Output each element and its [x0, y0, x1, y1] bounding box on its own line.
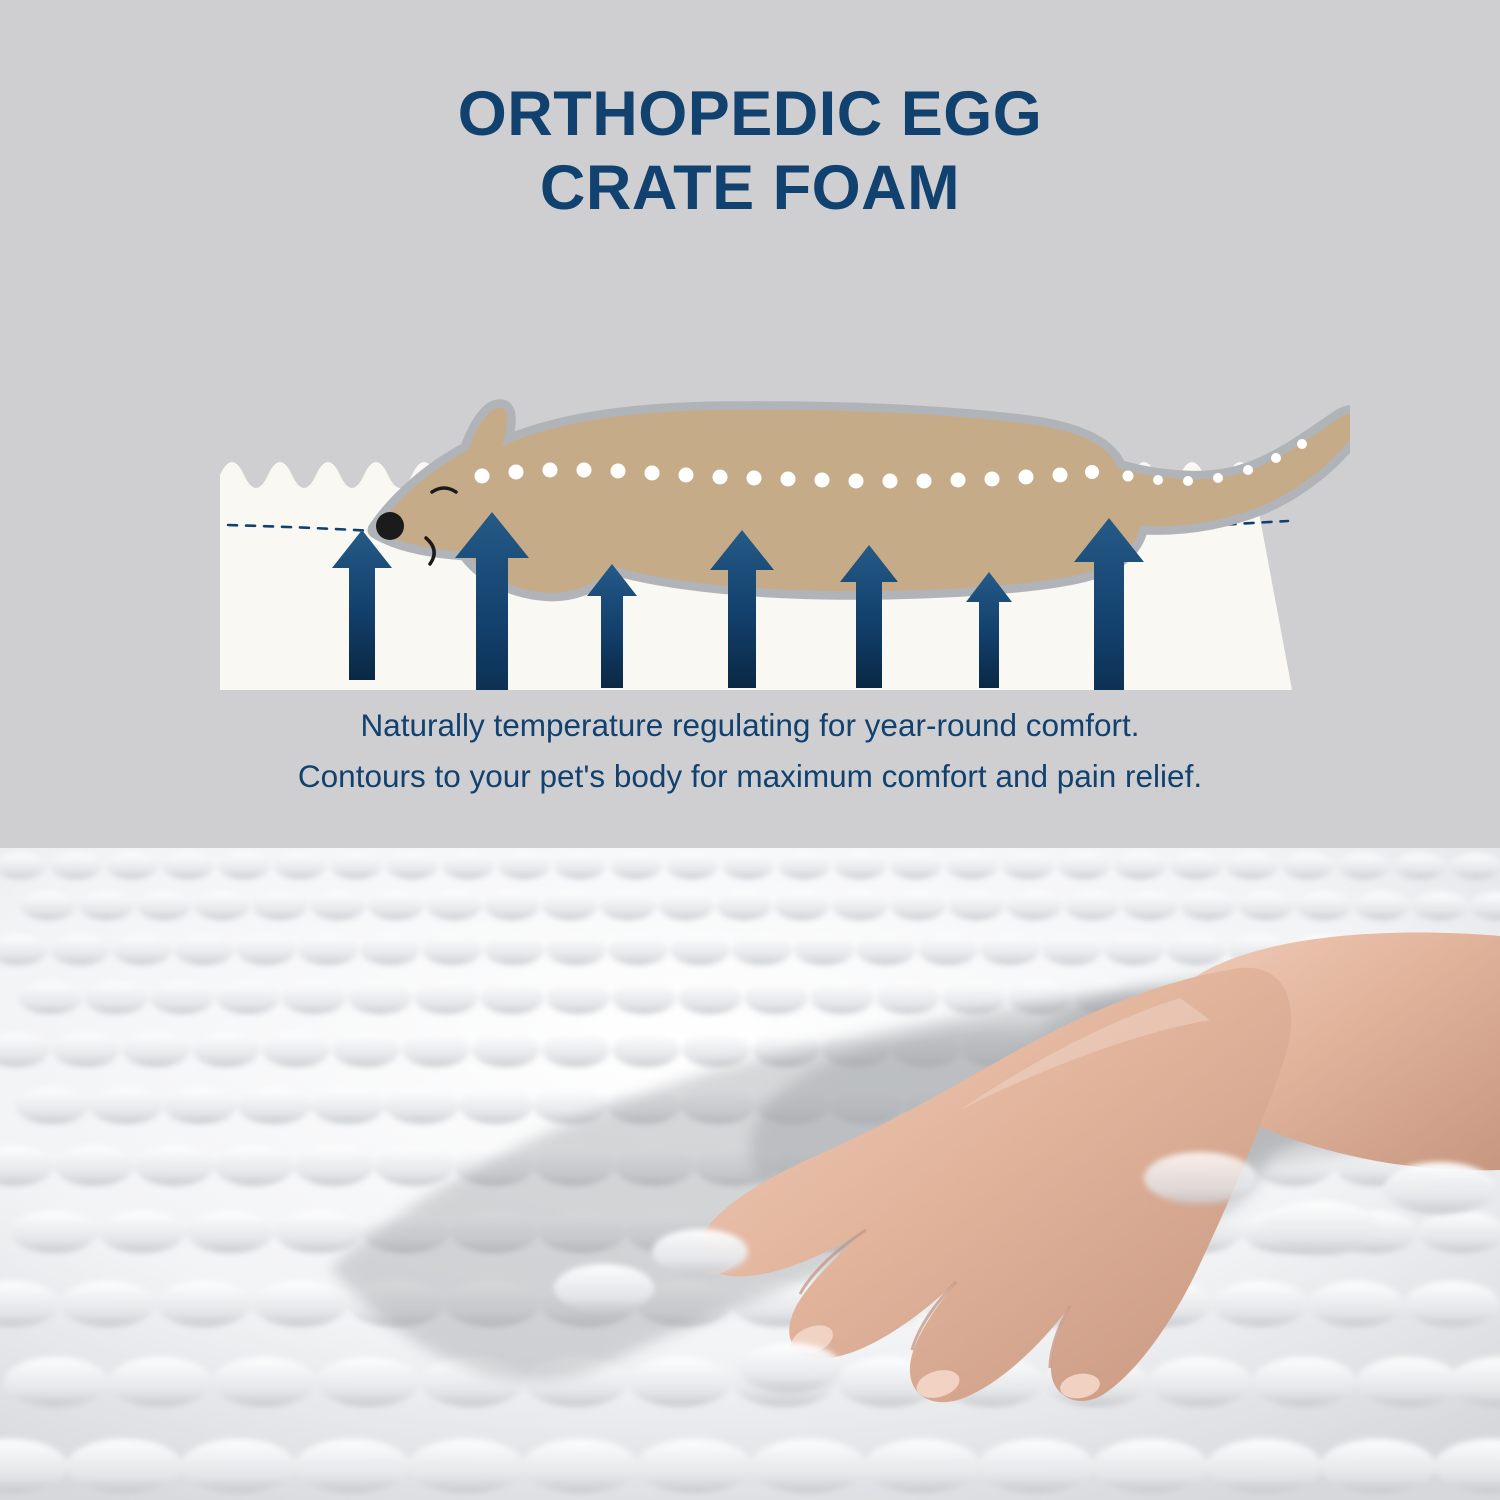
caption-line-1: Naturally temperature regulating for yea… — [0, 700, 1500, 751]
product-infographic: Orthopedic Egg Crate Foam — [0, 0, 1500, 1500]
caption-line-2: Contours to your pet's body for maximum … — [0, 751, 1500, 802]
page-title-line-1: Orthopedic Egg — [458, 79, 1043, 149]
page-title: Orthopedic Egg Crate Foam — [0, 78, 1500, 225]
dog-nose-icon — [376, 512, 404, 540]
page-title-line-2: Crate Foam — [540, 153, 960, 223]
top-info-panel: Orthopedic Egg Crate Foam — [0, 0, 1500, 848]
foam-support-diagram — [150, 300, 1350, 690]
foam-photo — [0, 848, 1500, 1500]
caption-text: Naturally temperature regulating for yea… — [0, 700, 1500, 802]
